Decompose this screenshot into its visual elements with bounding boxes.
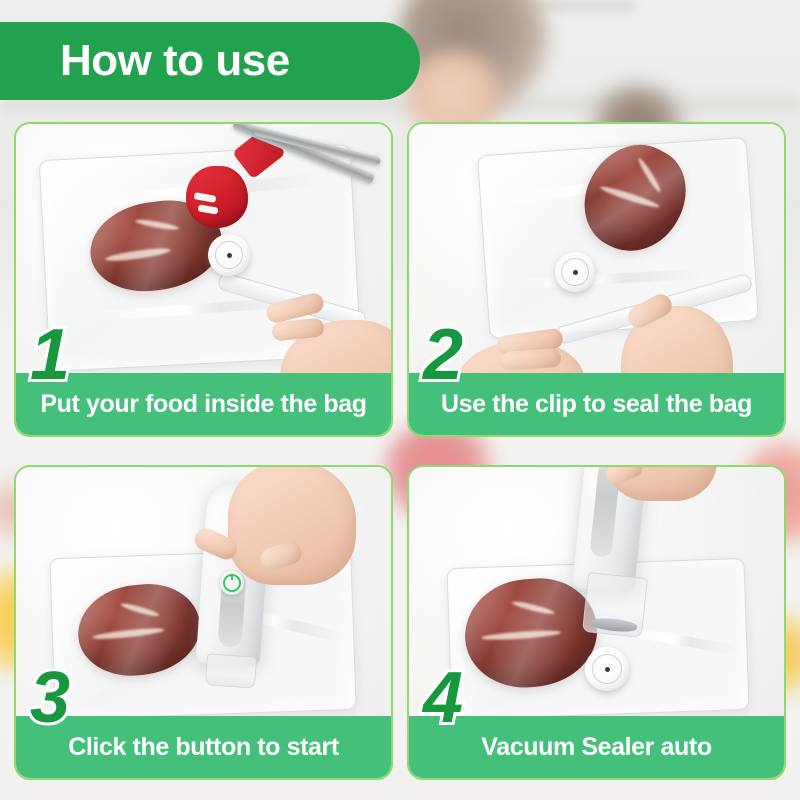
step-4-valve-dot — [605, 667, 610, 672]
step-caption-3: Click the button to start — [68, 733, 339, 762]
step-number-1: 1 — [30, 319, 70, 391]
step-panel-1: 1 Put your food inside the bag — [14, 122, 393, 437]
step-panel-4: 4 Vacuum Sealer auto — [407, 465, 786, 780]
step-1-valve-icon — [208, 234, 250, 276]
step-2-valve-icon — [555, 252, 595, 292]
step-caption-bar-2: Use the clip to seal the bag — [409, 373, 784, 435]
step-number-2: 2 — [423, 319, 463, 391]
step-caption-1: Put your food inside the bag — [40, 390, 366, 419]
step-caption-bar-1: Put your food inside the bag — [16, 373, 391, 435]
step-3-power-button[interactable] — [220, 571, 244, 595]
step-4-valve-icon — [585, 647, 629, 691]
step-3-hand — [228, 467, 356, 585]
power-icon — [223, 574, 241, 592]
step-3-sealer-nozzle — [205, 653, 257, 688]
infographic-page: How to use — [0, 0, 800, 800]
header-banner: How to use — [0, 22, 420, 100]
step-caption-2: Use the clip to seal the bag — [441, 390, 752, 419]
step-panel-3: 3 Click the button to start — [14, 465, 393, 780]
step-2-valve-dot — [573, 270, 578, 275]
step-caption-4: Vacuum Sealer auto — [481, 733, 711, 762]
step-panel-2: 2 Use the clip to seal the bag — [407, 122, 786, 437]
step-number-4: 4 — [423, 662, 463, 734]
step-number-3: 3 — [30, 662, 70, 734]
step-1-valve-dot — [227, 253, 232, 258]
step-caption-bar-4: Vacuum Sealer auto — [409, 716, 784, 778]
steps-grid: 1 Put your food inside the bag — [14, 122, 786, 780]
step-caption-bar-3: Click the button to start — [16, 716, 391, 778]
page-title: How to use — [60, 39, 290, 83]
